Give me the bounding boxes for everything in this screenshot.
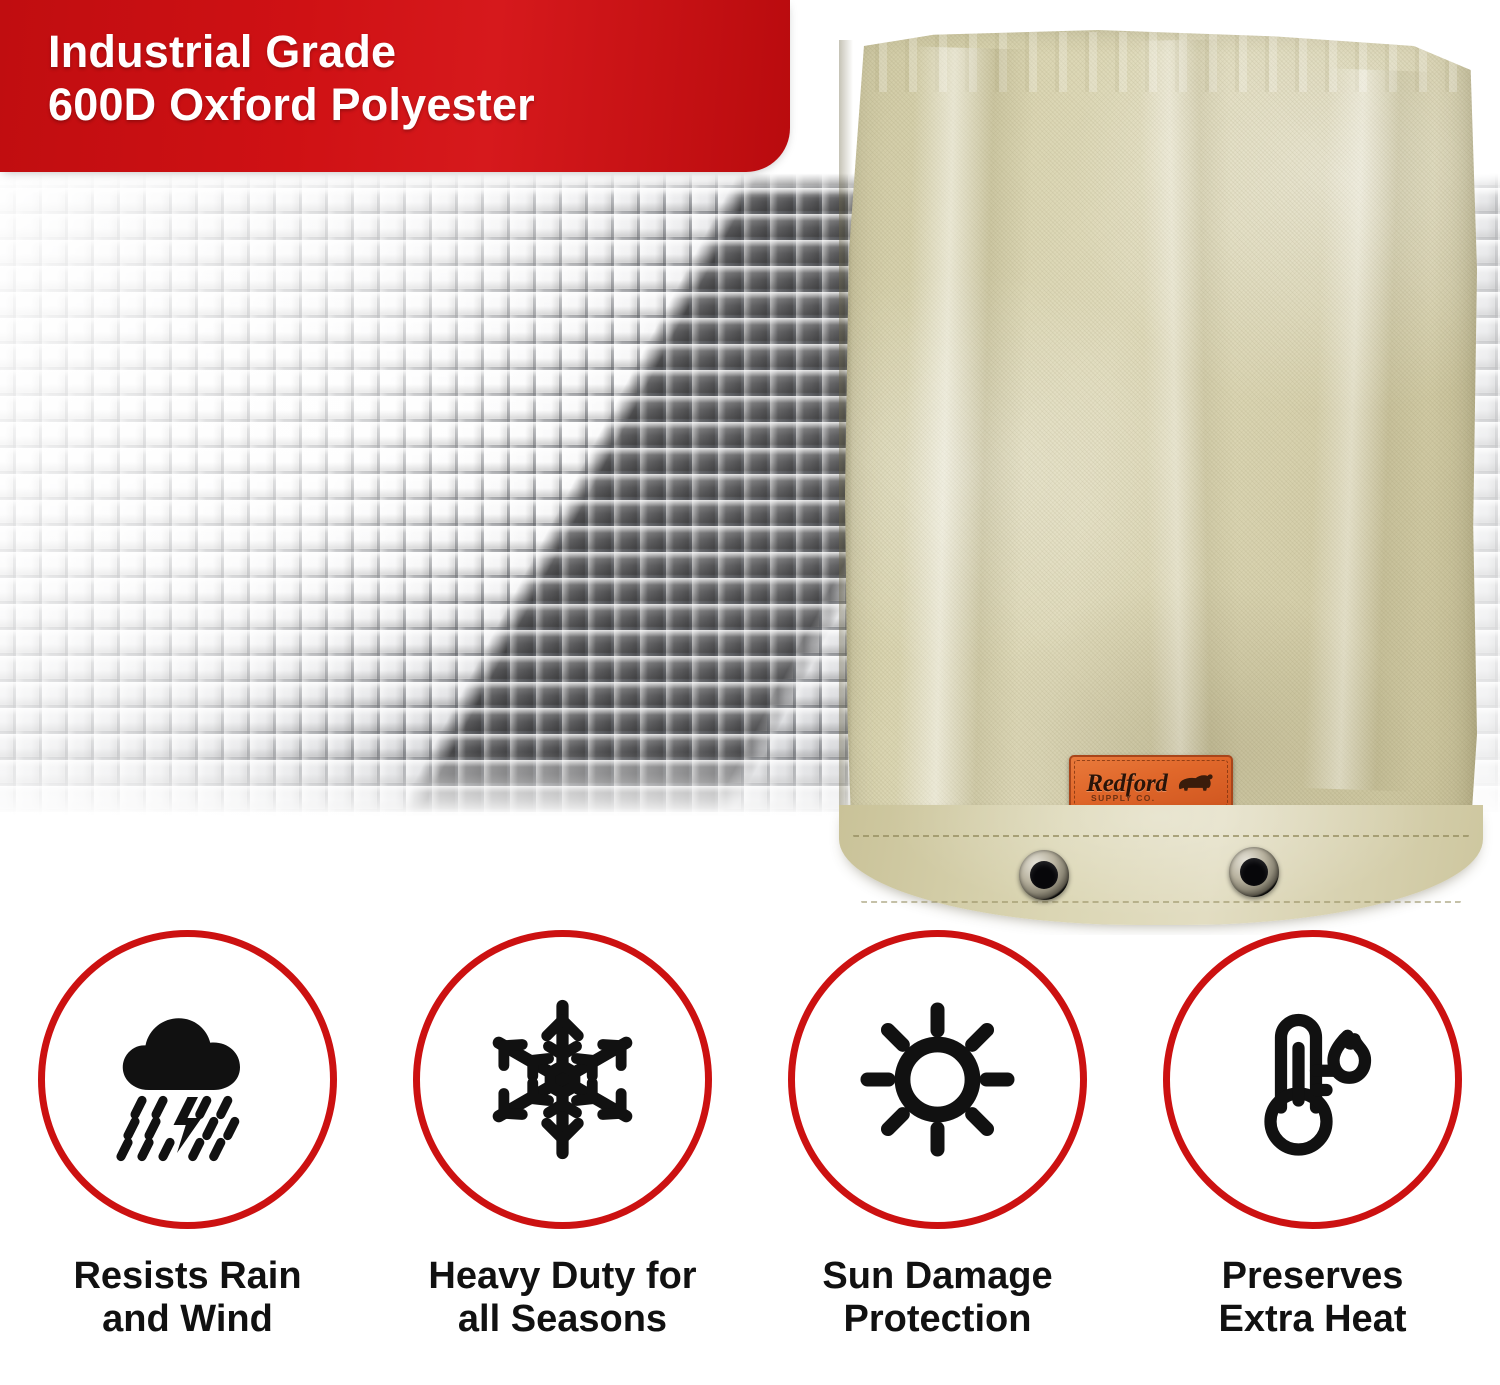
sun-icon [850, 992, 1025, 1167]
feature-icon-circle [1163, 930, 1462, 1229]
brand-name: Redford [1086, 771, 1167, 796]
cover-fold [1138, 39, 1241, 810]
grommet-icon [1229, 847, 1279, 897]
feature-list: Resists Rain and Wind [0, 930, 1500, 1385]
rain-cloud-icon [100, 992, 275, 1167]
brand-subtitle: SUPPLY CO. [1091, 793, 1156, 803]
feature-caption-line-1: Heavy Duty for [428, 1255, 696, 1298]
feature-item-snow: Heavy Duty for all Seasons [375, 930, 750, 1385]
cover-fold [895, 47, 1035, 810]
feature-icon-circle [38, 930, 337, 1229]
feature-caption-line-1: Resists Rain [73, 1255, 301, 1298]
feature-caption: Resists Rain and Wind [73, 1255, 301, 1340]
feature-caption: Preserves Extra Heat [1219, 1255, 1407, 1340]
feature-item-rain: Resists Rain and Wind [0, 930, 375, 1385]
cover-left-shadow [839, 40, 853, 830]
cover-bottom-hem [839, 805, 1483, 925]
bear-icon [1174, 770, 1216, 796]
snowflake-icon [475, 992, 650, 1167]
feature-caption: Sun Damage Protection [822, 1255, 1052, 1340]
feature-caption-line-2: all Seasons [428, 1298, 696, 1341]
hem-stitch-line [853, 835, 1469, 853]
feature-caption: Heavy Duty for all Seasons [428, 1255, 696, 1340]
hem-stitch-line [861, 901, 1461, 917]
feature-caption-line-2: Protection [822, 1298, 1052, 1341]
feature-icon-circle [788, 930, 1087, 1229]
feature-caption-line-1: Sun Damage [822, 1255, 1052, 1298]
feature-caption-line-1: Preserves [1219, 1255, 1407, 1298]
hero-product-photo: Redford SUPPLY CO. Industrial Grade 600D… [0, 0, 1500, 935]
grommet-icon [1019, 850, 1069, 900]
feature-item-sun: Sun Damage Protection [750, 930, 1125, 1385]
thermometer-flame-icon [1225, 992, 1400, 1167]
headline-line-1: Industrial Grade [48, 26, 396, 77]
brand-label-patch: Redford SUPPLY CO. [1069, 755, 1233, 811]
feature-caption-line-2: Extra Heat [1219, 1298, 1407, 1341]
faucet-cover-product: Redford SUPPLY CO. [845, 30, 1477, 910]
feature-icon-circle [413, 930, 712, 1229]
product-feature-infographic: Redford SUPPLY CO. Industrial Grade 600D… [0, 0, 1500, 1385]
feature-caption-line-2: and Wind [73, 1298, 301, 1341]
feature-item-heat: Preserves Extra Heat [1125, 930, 1500, 1385]
headline-banner: Industrial Grade 600D Oxford Polyester [0, 0, 790, 172]
headline-line-2: 600D Oxford Polyester [48, 79, 535, 132]
headline-text: Industrial Grade 600D Oxford Polyester [48, 26, 535, 131]
cover-fabric-body [845, 30, 1477, 830]
